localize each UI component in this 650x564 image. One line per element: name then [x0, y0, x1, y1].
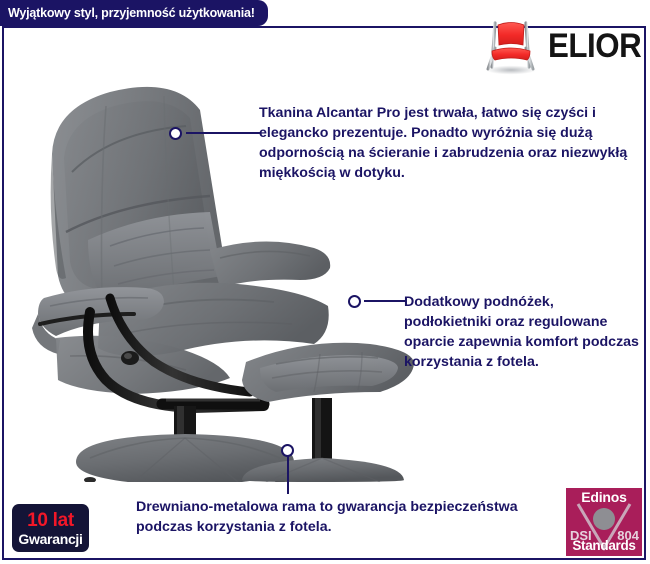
callout-dot-frame — [281, 444, 294, 457]
brand-logo: ELIOR — [480, 14, 640, 78]
callout-dot-fabric — [169, 127, 182, 140]
warranty-badge: 10 lat Gwarancji — [12, 504, 89, 552]
headline-banner: Wyjątkowy styl, przyjemność użytkowania! — [0, 0, 268, 26]
certification-badge: Edinos DSI 804 Standards — [566, 488, 642, 556]
callout-text-frame: Drewniano-metalowa rama to gwarancja bez… — [136, 497, 556, 537]
callout-line-fabric — [186, 132, 260, 134]
brand-name: ELIOR — [548, 27, 641, 66]
red-chair-icon — [480, 15, 542, 77]
headline-text: Wyjątkowy styl, przyjemność użytkowania! — [8, 6, 255, 20]
promo-infographic: Wyjątkowy styl, przyjemność użytkowania! — [0, 0, 650, 564]
callout-line-frame — [287, 456, 289, 494]
certification-subtitle: Standards — [566, 538, 642, 553]
certification-title: Edinos — [566, 489, 642, 505]
callout-text-footstool: Dodatkowy podnóżek, podłokietniki oraz r… — [404, 292, 644, 373]
warranty-label: Gwarancji — [18, 532, 82, 546]
callout-text-fabric: Tkanina Alcantar Pro jest trwała, łatwo … — [259, 103, 639, 184]
warranty-years: 10 lat — [27, 511, 74, 530]
callout-line-footstool — [364, 300, 406, 302]
callout-dot-footstool — [348, 295, 361, 308]
